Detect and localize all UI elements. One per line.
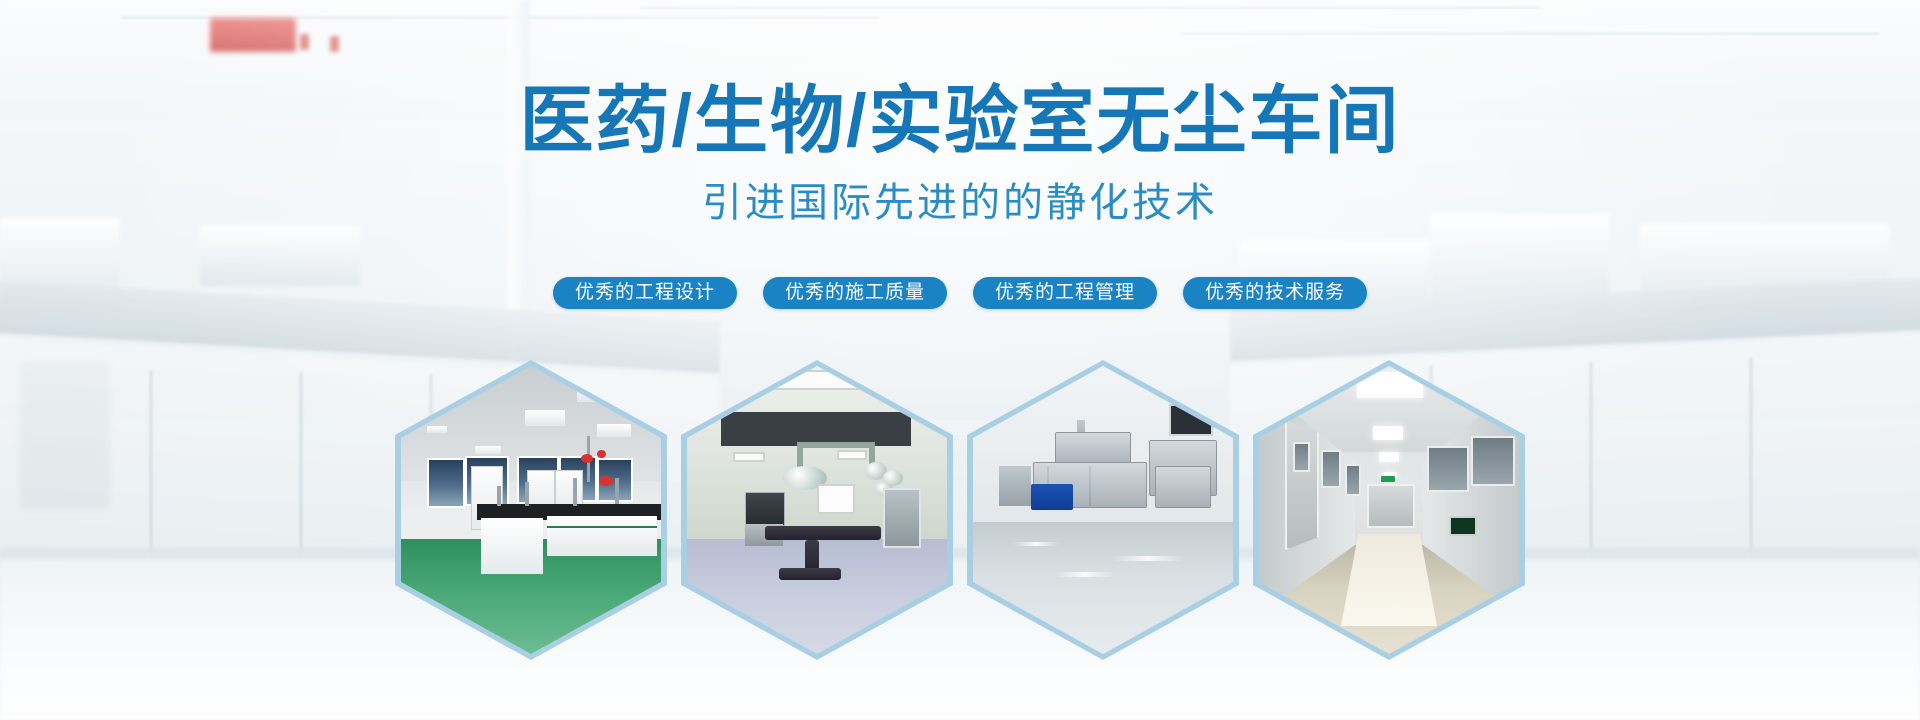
feature-pill-list: 优秀的工程设计 优秀的施工质量 优秀的工程管理 优秀的技术服务 xyxy=(0,277,1920,309)
hexagon-image-clip xyxy=(973,366,1233,654)
hexagon-image-clip xyxy=(687,366,947,654)
hexagon-photo-cleanroom-corridor[interactable] xyxy=(1253,360,1525,660)
hexagon-photo-operating-room[interactable] xyxy=(681,360,953,660)
hexagon-photo-production-workshop[interactable] xyxy=(967,360,1239,660)
feature-pill-engineering-design[interactable]: 优秀的工程设计 xyxy=(553,277,737,309)
feature-pill-construction-quality[interactable]: 优秀的施工质量 xyxy=(763,277,947,309)
page-subtitle: 引进国际先进的的静化技术 xyxy=(0,183,1920,223)
page-title: 医药/生物/实验室无尘车间 xyxy=(0,84,1920,158)
feature-pill-technical-service[interactable]: 优秀的技术服务 xyxy=(1183,277,1367,309)
hexagon-photo-gallery xyxy=(0,360,1920,660)
hexagon-image-clip xyxy=(401,366,661,654)
hexagon-photo-laboratory[interactable] xyxy=(395,360,667,660)
hero-banner: 医药/生物/实验室无尘车间 引进国际先进的的静化技术 优秀的工程设计 优秀的施工… xyxy=(0,0,1920,720)
feature-pill-engineering-management[interactable]: 优秀的工程管理 xyxy=(973,277,1157,309)
hexagon-image-clip xyxy=(1259,366,1519,654)
